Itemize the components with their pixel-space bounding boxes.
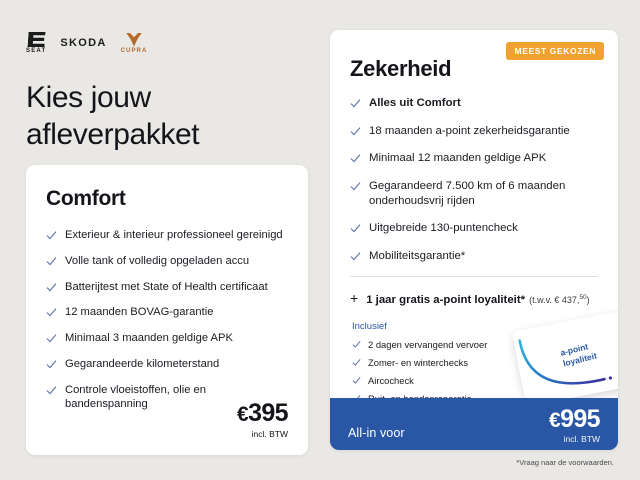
bonus-row: + 1 jaar gratis a-point loyaliteit*(t.w.… <box>350 290 598 308</box>
allin-label: All-in voor <box>348 426 405 444</box>
list-item-label: Batterijtest met State of Health certifi… <box>65 280 268 295</box>
list-item-label: Zomer- en winterchecks <box>368 357 468 368</box>
comfort-price-note: incl. BTW <box>237 429 288 439</box>
list-item-label: 18 maanden a-point zekerheidsgarantie <box>369 124 570 139</box>
list-item: Gegarandeerde kilometerstand <box>46 357 288 372</box>
check-icon <box>46 333 57 344</box>
list-item-label: Exterieur & interieur professioneel gere… <box>65 228 283 243</box>
list-item-label: Alles uit Comfort <box>369 96 461 111</box>
list-item: Uitgebreide 130-puntencheck <box>350 221 598 236</box>
comfort-feature-list: Exterieur & interieur professioneel gere… <box>46 228 288 412</box>
section-divider <box>350 276 598 277</box>
brand-logo-bar: SEAT SKODA CUPRA <box>26 32 147 54</box>
list-item: Minimaal 3 maanden geldige APK <box>46 331 288 346</box>
list-item: Mobiliteitsgarantie* <box>350 249 598 264</box>
list-item-label: Minimaal 3 maanden geldige APK <box>65 331 233 346</box>
list-item-label: Aircocheck <box>368 375 414 386</box>
zekerheid-price-bar: All-in voor €995 incl. BTW <box>330 398 618 450</box>
seat-mark-icon <box>27 32 45 47</box>
zekerheid-price-amount: 995 <box>560 405 600 433</box>
list-item-label: Minimaal 12 maanden geldige APK <box>369 151 546 166</box>
price-row: All-in voor €995 incl. BTW <box>348 407 600 444</box>
zekerheid-price: €995 <box>549 407 600 432</box>
bonus-value-cents: 50 <box>579 294 586 301</box>
check-icon <box>352 340 361 349</box>
comfort-price-amount: 395 <box>248 399 288 427</box>
check-icon <box>350 98 361 109</box>
currency-symbol: € <box>237 403 248 426</box>
status-badge: MEEST GEKOZEN <box>506 42 604 60</box>
list-item-label: 2 dagen vervangend vervoer <box>368 339 487 350</box>
check-icon <box>350 181 361 192</box>
cupra-logo: CUPRA <box>121 33 148 54</box>
currency-symbol: € <box>549 409 560 432</box>
plus-icon: + <box>350 291 358 305</box>
zekerheid-feature-list: Alles uit Comfort 18 maanden a-point zek… <box>350 96 598 264</box>
check-icon <box>46 230 57 241</box>
check-icon <box>46 385 57 396</box>
check-icon <box>350 251 361 262</box>
list-item: Minimaal 12 maanden geldige APK <box>350 151 598 166</box>
list-item-label: Volle tank of volledig opgeladen accu <box>65 254 249 269</box>
list-item: Gegarandeerd 7.500 km of 6 maanden onder… <box>350 179 598 209</box>
promo-page: SEAT SKODA CUPRA Kies jouw afleverpakket… <box>0 0 640 480</box>
list-item: Batterijtest met State of Health certifi… <box>46 280 288 295</box>
list-item: 18 maanden a-point zekerheidsgarantie <box>350 124 598 139</box>
package-card-zekerheid[interactable]: MEEST GEKOZEN Zekerheid Alles uit Comfor… <box>330 30 618 450</box>
comfort-title: Comfort <box>46 187 288 211</box>
bonus-value: (t.w.v. € 437,50) <box>529 295 590 305</box>
bonus-label-wrap: 1 jaar gratis a-point loyaliteit*(t.w.v.… <box>366 290 589 308</box>
seat-wordmark: SEAT <box>26 48 46 54</box>
bonus-value-prefix: (t.w.v. € 437, <box>529 295 579 305</box>
list-item-label: Gegarandeerde kilometerstand <box>65 357 219 372</box>
seat-logo: SEAT <box>26 32 46 54</box>
check-icon <box>46 256 57 267</box>
zekerheid-price-block: €995 incl. BTW <box>549 407 600 444</box>
list-item: 12 maanden BOVAG-garantie <box>46 305 288 320</box>
list-item-label: 12 maanden BOVAG-garantie <box>65 305 213 320</box>
bonus-label: 1 jaar gratis a-point loyaliteit* <box>366 294 525 306</box>
check-icon <box>352 358 361 367</box>
bonus-value-suffix: ) <box>587 295 590 305</box>
cupra-wordmark: CUPRA <box>121 48 148 54</box>
comfort-price-block: €395 incl. BTW <box>237 401 288 439</box>
zekerheid-content: Zekerheid Alles uit Comfort 18 maanden a… <box>330 30 618 398</box>
check-icon <box>350 126 361 137</box>
list-item-label: Uitgebreide 130-puntencheck <box>369 221 518 236</box>
cupra-mark-icon <box>126 33 142 47</box>
footnote: *Vraag naar de voorwaarden. <box>516 458 614 467</box>
zekerheid-price-note: incl. BTW <box>549 434 600 444</box>
page-title: Kies jouw afleverpakket <box>26 80 316 154</box>
check-icon <box>46 282 57 293</box>
list-item: Volle tank of volledig opgeladen accu <box>46 254 288 269</box>
check-icon <box>46 359 57 370</box>
list-item-label: Mobiliteitsgarantie* <box>369 249 465 264</box>
check-icon <box>350 153 361 164</box>
comfort-price: €395 <box>237 401 288 426</box>
check-icon <box>352 376 361 385</box>
skoda-logo: SKODA <box>60 37 106 49</box>
list-item: Exterieur & interieur professioneel gere… <box>46 228 288 243</box>
list-item-label: Gegarandeerd 7.500 km of 6 maanden onder… <box>369 179 598 209</box>
package-card-comfort[interactable]: Comfort Exterieur & interieur profession… <box>26 165 308 455</box>
list-item: Alles uit Comfort <box>350 96 598 111</box>
check-icon <box>46 307 57 318</box>
check-icon <box>350 223 361 234</box>
